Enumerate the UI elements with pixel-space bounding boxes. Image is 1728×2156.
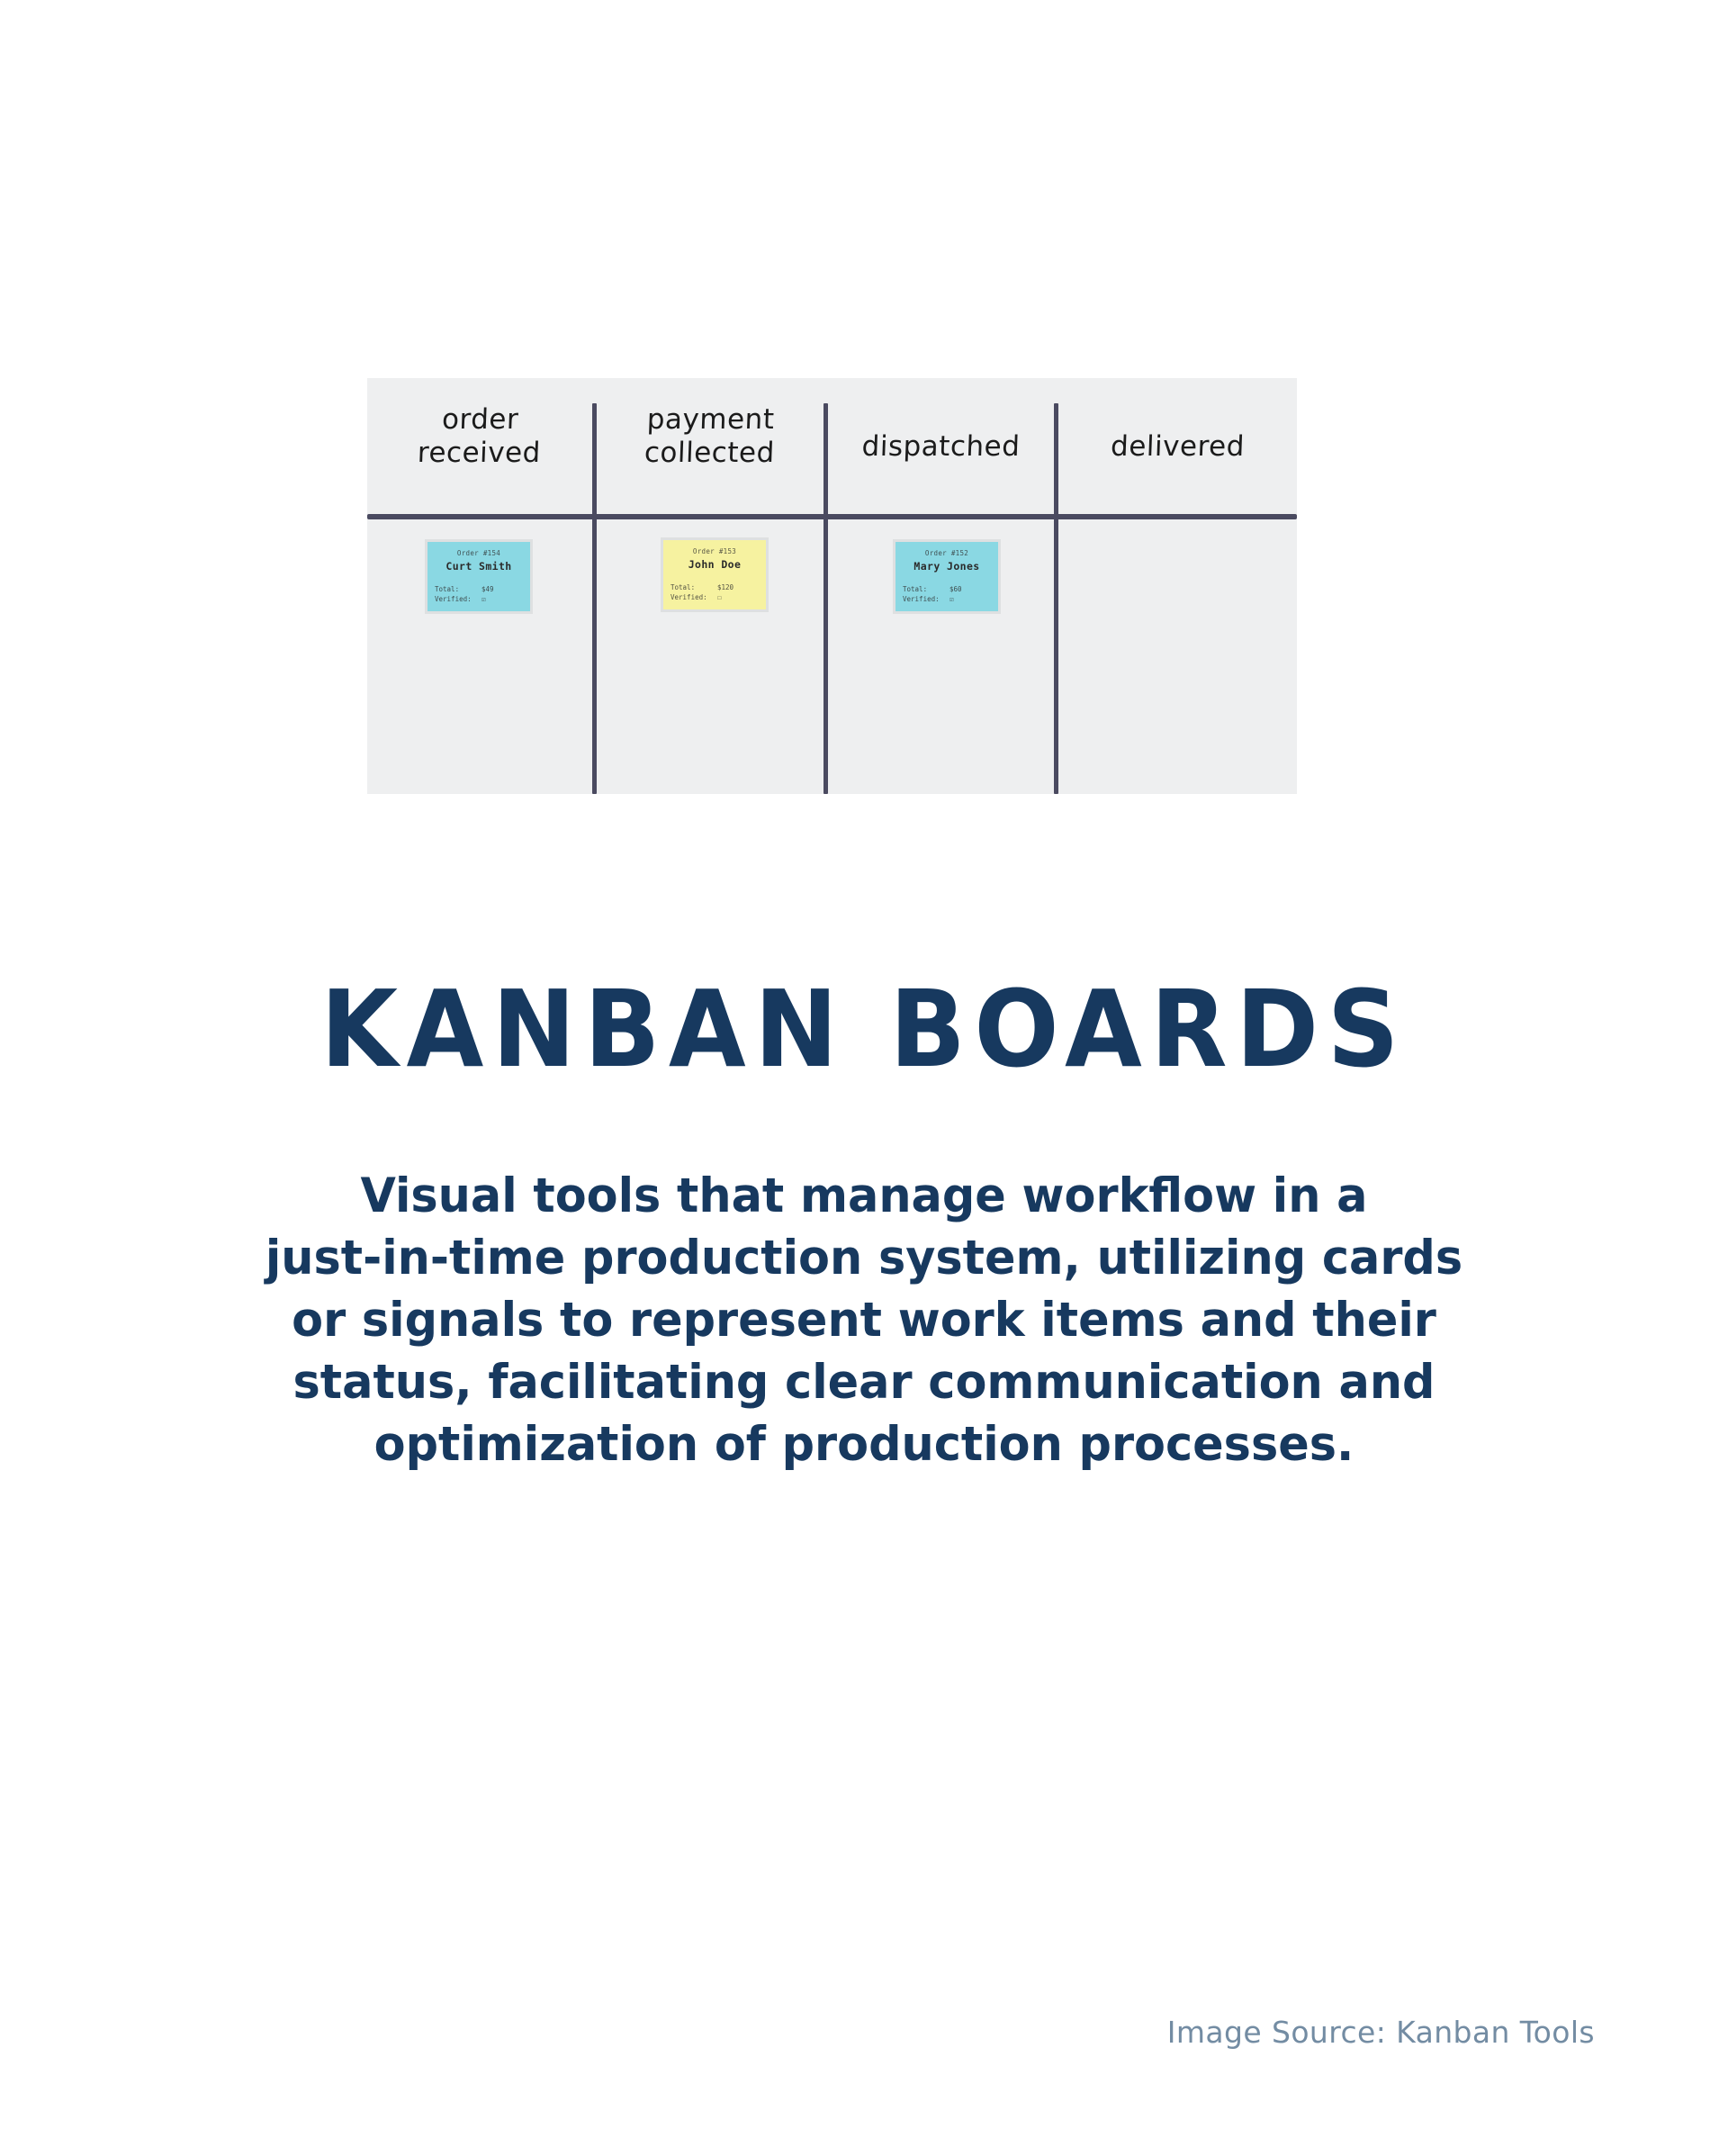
card-meta: Total: $60 Verified: ☑	[903, 585, 991, 605]
image-source-credit: Image Source: Kanban Tools	[1167, 2015, 1595, 2050]
column-header-line2: received	[367, 437, 592, 470]
card-total-row: Total: $120	[670, 583, 759, 593]
card-verified-label: Verified:	[903, 595, 949, 605]
card-meta: Total: $120 Verified: ☐	[670, 583, 759, 603]
column-header-line1: dispatched	[827, 430, 1054, 464]
card-customer-name: Curt Smith	[434, 560, 524, 573]
kanban-card-order-154[interactable]: Order #154 Curt Smith Total: $49 Verifie…	[427, 542, 530, 611]
card-verified-checkbox[interactable]: ☑	[949, 595, 954, 605]
board-header-divider	[367, 514, 1297, 519]
card-total-value: $49	[481, 585, 494, 595]
card-total-label: Total:	[435, 585, 481, 595]
column-header-dispatched: dispatched	[827, 430, 1054, 464]
page-description: Visual tools that manage workflow in a j…	[156, 1166, 1572, 1475]
card-verified-label: Verified:	[670, 593, 717, 603]
column-header-line1: payment	[597, 403, 824, 437]
column-header-line2: collected	[596, 437, 823, 470]
description-line-2: just-in-time production system, utilizin…	[156, 1228, 1572, 1290]
card-order-number: Order #152	[902, 549, 992, 557]
column-header-line1: delivered	[1057, 430, 1297, 464]
kanban-card-order-152[interactable]: Order #152 Mary Jones Total: $60 Verifie…	[895, 542, 998, 611]
column-header-delivered: delivered	[1057, 430, 1297, 464]
card-total-label: Total:	[670, 583, 717, 593]
card-customer-name: John Doe	[670, 558, 760, 571]
description-line-1: Visual tools that manage workflow in a	[156, 1166, 1572, 1228]
card-verified-checkbox[interactable]: ☑	[481, 595, 486, 605]
card-total-value: $60	[949, 585, 962, 595]
page-title: KANBAN BOARDS	[52, 976, 1677, 1082]
column-header-order-received: order received	[367, 403, 593, 469]
description-line-5: optimization of production processes.	[156, 1414, 1572, 1476]
card-order-number: Order #153	[670, 547, 760, 555]
card-verified-label: Verified:	[435, 595, 481, 605]
card-meta: Total: $49 Verified: ☑	[435, 585, 523, 605]
card-customer-name: Mary Jones	[902, 560, 992, 573]
kanban-board-image: order received payment collected dispatc…	[367, 378, 1297, 794]
column-header-payment-collected: payment collected	[596, 403, 825, 469]
card-total-row: Total: $60	[903, 585, 991, 595]
card-verified-row: Verified: ☑	[903, 595, 991, 605]
description-line-3: or signals to represent work items and t…	[156, 1290, 1572, 1352]
card-verified-row: Verified: ☐	[670, 593, 759, 603]
kanban-board-canvas: order received payment collected dispatc…	[367, 378, 1297, 794]
description-line-4: status, facilitating clear communication…	[156, 1352, 1572, 1414]
card-verified-checkbox[interactable]: ☐	[717, 593, 722, 603]
card-total-label: Total:	[903, 585, 949, 595]
column-header-line1: order	[367, 403, 593, 437]
card-total-value: $120	[717, 583, 733, 593]
card-order-number: Order #154	[434, 549, 524, 557]
kanban-card-order-153[interactable]: Order #153 John Doe Total: $120 Verified…	[663, 540, 766, 609]
card-verified-row: Verified: ☑	[435, 595, 523, 605]
card-total-row: Total: $49	[435, 585, 523, 595]
